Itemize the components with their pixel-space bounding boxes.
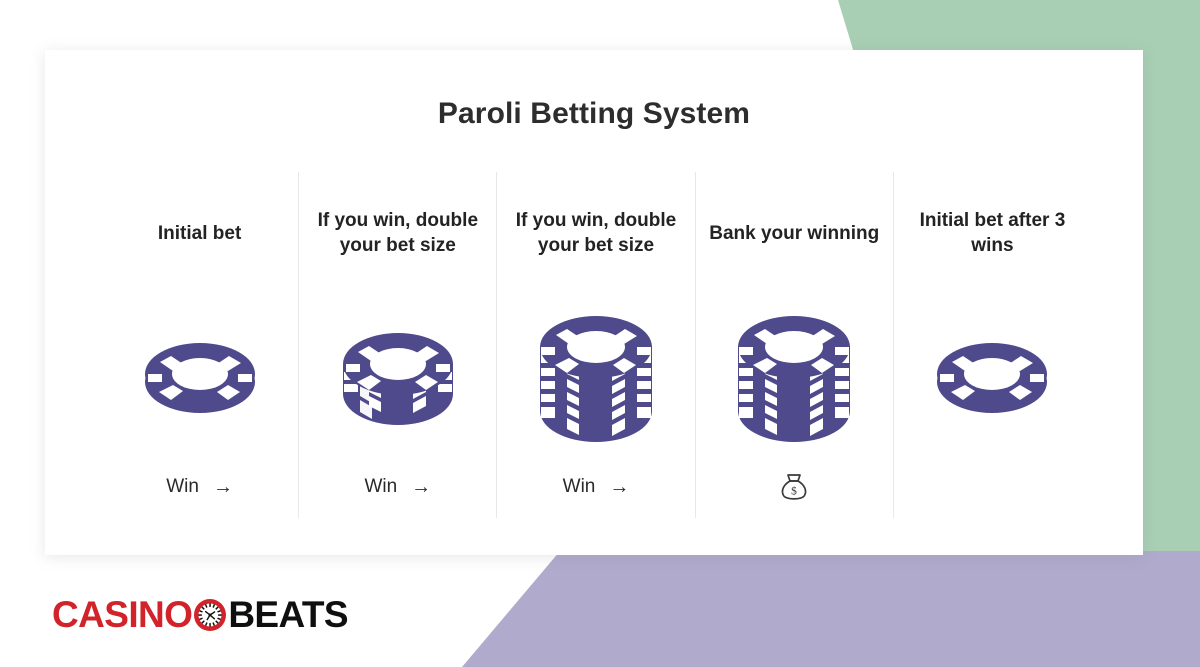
step-footer-5: [894, 456, 1091, 518]
poker-chip-stack-tall-icon: [534, 303, 658, 449]
step-column-3: If you win, double your bet size: [496, 172, 694, 518]
chip-stack-3: [497, 296, 694, 456]
infographic-card: Paroli Betting System Initial bet: [45, 50, 1143, 555]
arrow-right-icon: →: [411, 477, 431, 497]
win-label-2: Win: [364, 476, 397, 498]
step-footer-3: Win →: [497, 456, 694, 518]
roulette-wheel-icon: [193, 598, 227, 632]
page-title: Paroli Betting System: [45, 97, 1143, 131]
step-column-2: If you win, double your bet size: [298, 172, 496, 518]
logo-text-casino: CASINO: [52, 596, 192, 633]
step-column-4: Bank your winning: [695, 172, 893, 518]
purple-accent-shape: [462, 551, 1200, 667]
chip-stack-5: [894, 296, 1091, 456]
poker-chip-stack-tall-icon: [732, 303, 856, 449]
logo-text-beats: BEATS: [228, 596, 348, 633]
chip-stack-1: [101, 296, 298, 456]
chip-stack-4: [696, 296, 893, 456]
steps-row: Initial bet: [101, 172, 1091, 518]
chip-stack-2: [299, 296, 496, 456]
win-label-3: Win: [563, 476, 596, 498]
step-header-1: Initial bet: [148, 172, 251, 296]
step-column-5: Initial bet after 3 wins: [893, 172, 1091, 518]
money-bag-icon: $: [777, 470, 811, 504]
poker-chip-single-icon: [142, 330, 258, 422]
step-header-4: Bank your winning: [699, 172, 889, 296]
step-footer-1: Win →: [101, 456, 298, 518]
arrow-right-icon: →: [609, 477, 629, 497]
step-footer-2: Win →: [299, 456, 496, 518]
svg-text:$: $: [791, 485, 797, 498]
step-footer-4: $: [696, 456, 893, 518]
step-header-5: Initial bet after 3 wins: [894, 172, 1091, 296]
step-header-2: If you win, double your bet size: [299, 172, 496, 296]
casinobeats-logo[interactable]: CASINO BEATS: [52, 596, 348, 633]
arrow-right-icon: →: [213, 477, 233, 497]
win-label-1: Win: [166, 476, 199, 498]
poker-chip-single-icon: [934, 330, 1050, 422]
step-column-1: Initial bet: [101, 172, 298, 518]
step-header-3: If you win, double your bet size: [497, 172, 694, 296]
poker-chip-stack-small-icon: [338, 320, 458, 432]
